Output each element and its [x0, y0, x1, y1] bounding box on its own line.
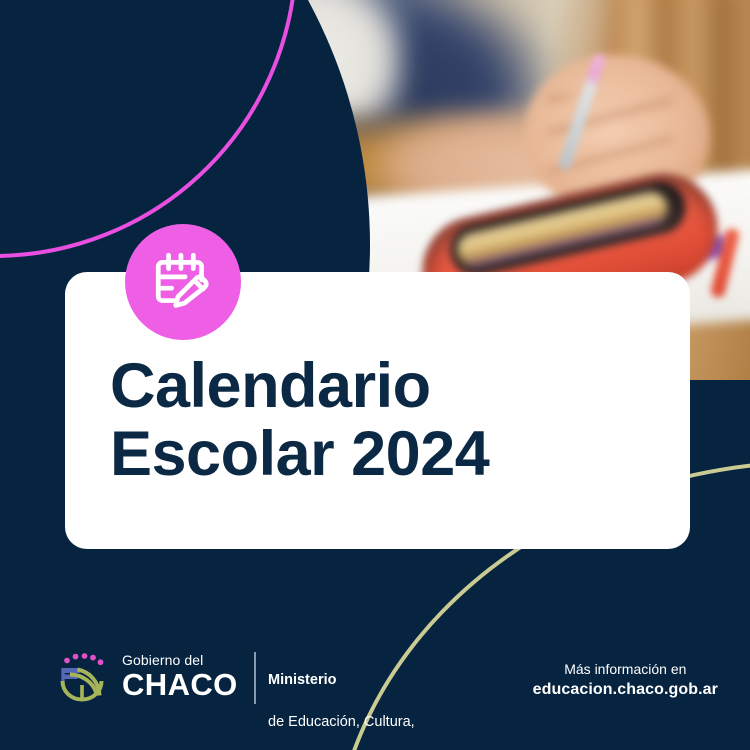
calendar-pencil-icon	[150, 249, 216, 315]
poster-canvas: Calendario Escolar 2024	[0, 0, 750, 750]
footer-divider	[254, 652, 256, 704]
ministerio-line-2: de Educación, Cultura,	[268, 712, 415, 733]
page-title: Calendario Escolar 2024	[110, 352, 489, 488]
gobierno-chaco-label: CHACO	[122, 669, 238, 702]
footer-bar: Gobierno del CHACO Ministerio de Educaci…	[0, 640, 750, 750]
website-url[interactable]: educacion.chaco.gob.ar	[533, 679, 718, 701]
gobierno-lockup: Gobierno del CHACO	[122, 652, 238, 702]
gobierno-small-label: Gobierno del	[122, 652, 238, 668]
calendar-badge	[125, 224, 241, 340]
ministerio-line-1: Ministerio	[268, 670, 415, 691]
chaco-leaf-logo	[53, 648, 111, 706]
ministerio-block: Ministerio de Educación, Cultura, Cienci…	[268, 649, 415, 750]
more-info-label: Más información en	[533, 660, 718, 679]
more-info-block: Más información en educacion.chaco.gob.a…	[533, 660, 718, 700]
